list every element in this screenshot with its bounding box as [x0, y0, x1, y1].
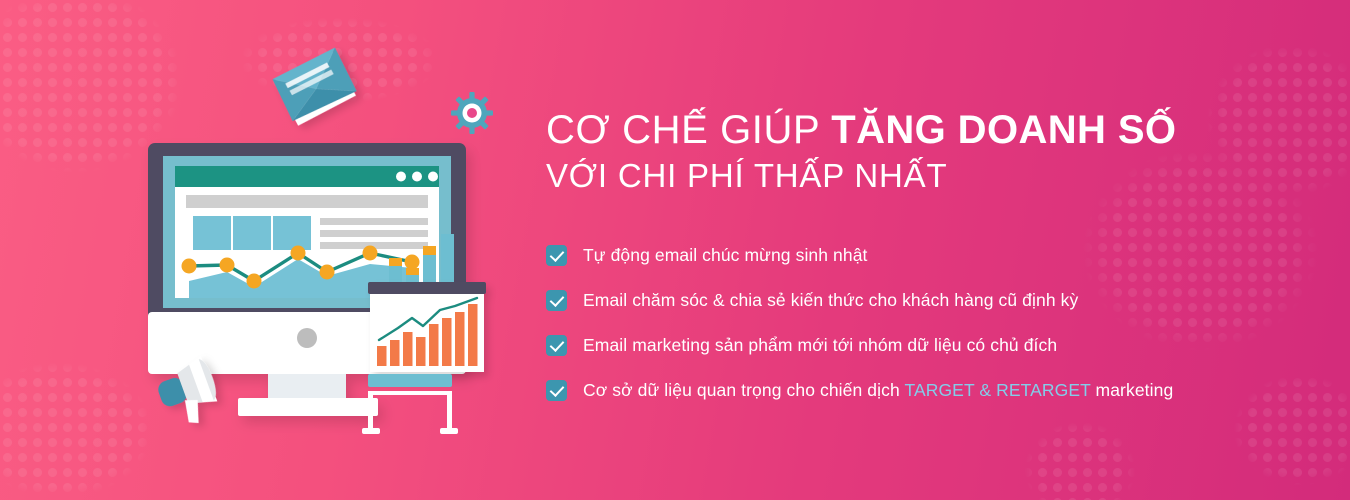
presentation-board — [362, 282, 486, 434]
content-block-1 — [193, 216, 231, 250]
list-item-label: Email marketing sản phẩm mới tới nhóm dữ… — [583, 335, 1057, 356]
content-block-3 — [273, 216, 311, 250]
board-tray — [368, 374, 452, 387]
window-dot-1 — [396, 172, 406, 182]
gear-icon — [451, 92, 493, 134]
check-icon — [546, 380, 567, 401]
board-leg-left — [368, 392, 373, 434]
board-leg-right — [447, 392, 452, 434]
window-dot-3 — [428, 172, 438, 182]
board-canvas — [370, 294, 484, 372]
check-icon — [546, 290, 567, 311]
list-item-highlight: TARGET & RETARGET — [904, 380, 1090, 400]
content-block-2 — [233, 216, 271, 250]
list-item: Email chăm sóc & chia sẻ kiến thức cho k… — [546, 278, 1326, 323]
check-icon — [546, 245, 567, 266]
copy-column: CƠ CHẾ GIÚP TĂNG DOANH SỐ VỚI CHI PHÍ TH… — [546, 110, 1326, 413]
list-item-label: Cơ sở dữ liệu quan trọng cho chiến dịch … — [583, 380, 1173, 401]
content-line-2 — [320, 230, 428, 237]
benefit-list: Tự động email chúc mừng sinh nhật Email … — [546, 233, 1326, 413]
window-dot-2 — [412, 172, 422, 182]
envelope-icon — [268, 45, 361, 129]
headline-line-1: CƠ CHẾ GIÚP TĂNG DOANH SỐ — [546, 110, 1326, 150]
list-item: Tự động email chúc mừng sinh nhật — [546, 233, 1326, 278]
board-top-rail — [368, 282, 486, 294]
list-item-text-before: Cơ sở dữ liệu quan trọng cho chiến dịch — [583, 380, 904, 400]
headline-bold-part: TĂNG DOANH SỐ — [831, 108, 1176, 152]
check-icon — [546, 335, 567, 356]
list-item: Cơ sở dữ liệu quan trọng cho chiến dịch … — [546, 368, 1326, 413]
content-header-bar — [186, 195, 428, 208]
list-item-label: Email chăm sóc & chia sẻ kiến thức cho k… — [583, 290, 1078, 311]
email-marketing-analytics-illustration — [0, 0, 520, 500]
headline-line-2: VỚI CHI PHÍ THẤP NHẤT — [546, 159, 1326, 192]
marketing-banner: CƠ CHẾ GIÚP TĂNG DOANH SỐ VỚI CHI PHÍ TH… — [0, 0, 1350, 500]
browser-window — [175, 166, 454, 298]
content-line-1 — [320, 218, 428, 225]
list-item-text-after: marketing — [1091, 380, 1174, 400]
page-title: CƠ CHẾ GIÚP TĂNG DOANH SỐ VỚI CHI PHÍ TH… — [546, 110, 1326, 192]
list-item-label: Tự động email chúc mừng sinh nhật — [583, 245, 868, 266]
list-item: Email marketing sản phẩm mới tới nhóm dữ… — [546, 323, 1326, 368]
headline-light-part: CƠ CHẾ GIÚP — [546, 108, 831, 152]
